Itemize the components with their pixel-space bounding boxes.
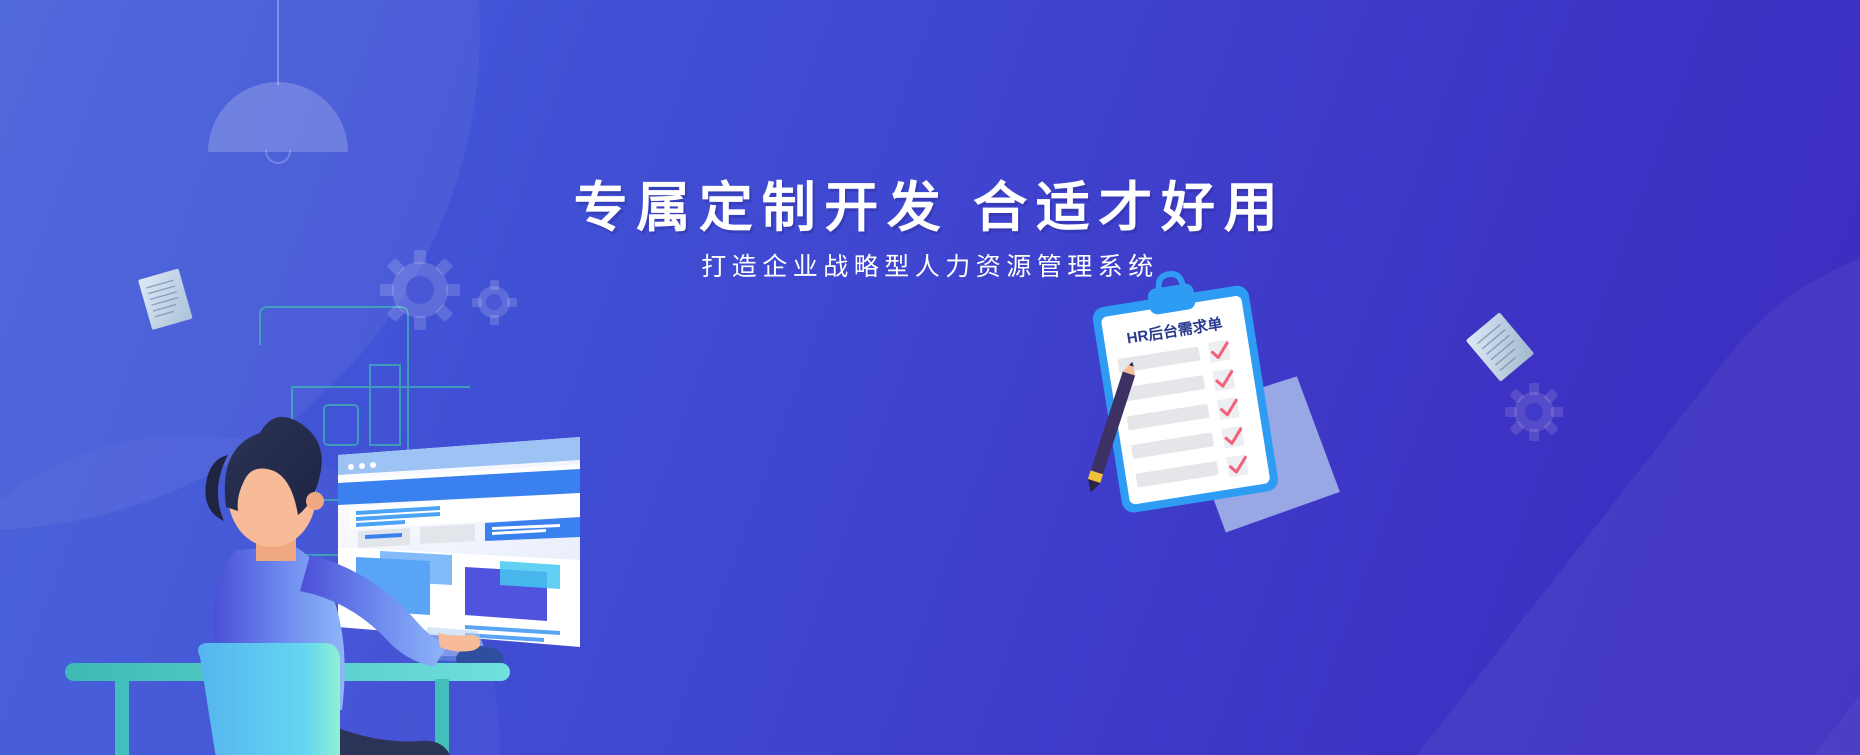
document-icon-floating — [138, 268, 193, 330]
checkbox — [1217, 397, 1240, 420]
lamp-icon — [208, 0, 348, 170]
document-icon-far-right — [1466, 312, 1534, 382]
checkbox — [1222, 426, 1245, 449]
checkbox — [1212, 368, 1235, 391]
lamp-shade — [208, 82, 348, 152]
lamp-bulb — [265, 150, 291, 164]
checkbox — [1226, 454, 1249, 477]
gear-icon-small — [472, 280, 517, 325]
checkbox — [1208, 340, 1231, 363]
gear-icon-decoration — [1505, 383, 1563, 441]
gear-icon-large — [380, 250, 460, 330]
illustration-clipboard: HR后台需求单 — [1060, 285, 1320, 515]
illustration-person-at-desk — [60, 255, 580, 755]
lamp-cord — [277, 0, 279, 85]
hr-promo-banner: 专属定制开发 合适才好用 打造企业战略型人力资源管理系统 — [0, 0, 1860, 755]
office-chair — [198, 643, 340, 755]
